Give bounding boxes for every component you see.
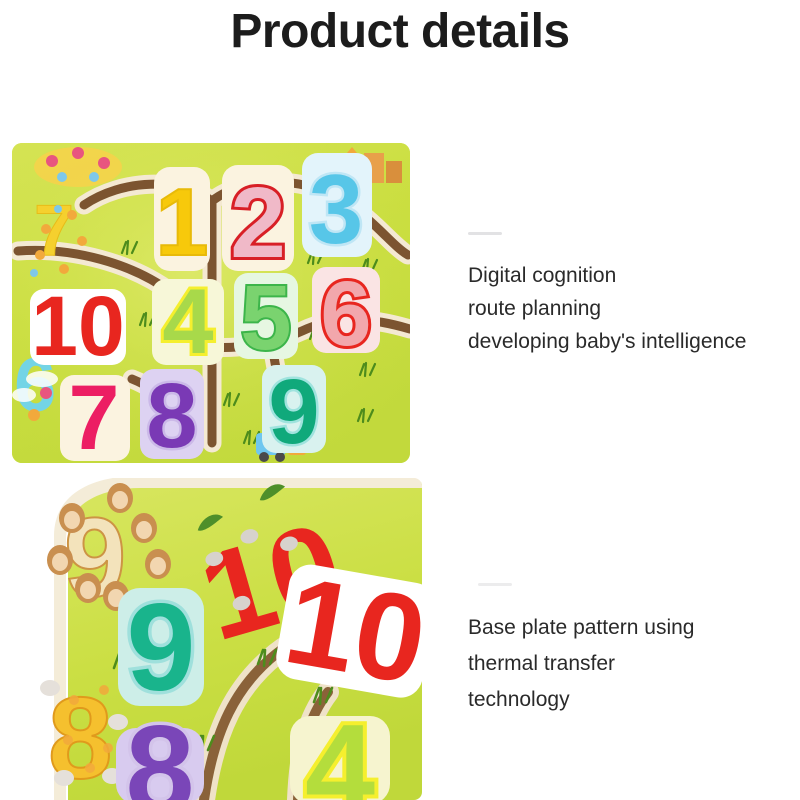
feature-line: thermal transfer	[468, 646, 695, 682]
svg-text:4: 4	[162, 271, 213, 373]
number-piece-9[interactable]: 9	[118, 579, 204, 717]
feature-line: Base plate pattern using	[468, 610, 695, 646]
number-piece-1[interactable]: 1	[154, 167, 210, 276]
feature-line: developing baby's intelligence	[468, 325, 746, 358]
feature-line: Digital cognition	[468, 259, 746, 292]
product-details-page: Product details	[0, 0, 800, 800]
number-piece-10[interactable]: 10	[271, 550, 422, 712]
feature-line: route planning	[468, 292, 746, 325]
svg-text:4: 4	[305, 698, 375, 800]
number-piece-3[interactable]: 3	[302, 153, 372, 264]
svg-text:5: 5	[240, 267, 291, 369]
svg-text:3: 3	[309, 154, 364, 264]
svg-text:9: 9	[127, 579, 196, 717]
number-piece-8[interactable]: 8	[140, 365, 204, 463]
svg-text:9: 9	[268, 361, 319, 463]
svg-text:8: 8	[146, 365, 197, 463]
number-piece-10[interactable]: 10	[30, 279, 126, 373]
number-piece-4[interactable]: 4	[152, 271, 224, 373]
product-photo-number-board: 7 6	[12, 143, 410, 463]
svg-text:6: 6	[320, 263, 371, 365]
number-piece-6[interactable]: 6	[312, 263, 380, 365]
base-plate-illustration: 9	[8, 478, 422, 800]
svg-text:2: 2	[230, 167, 286, 279]
feature-block-thermal-transfer: Base plate pattern using thermal transfe…	[468, 583, 695, 718]
svg-text:8: 8	[126, 701, 195, 800]
number-piece-5[interactable]: 5	[234, 267, 298, 369]
number-piece-7[interactable]: 7	[60, 367, 130, 463]
svg-text:1: 1	[155, 169, 208, 276]
number-board-illustration: 7 6	[12, 143, 410, 463]
number-piece-4[interactable]: 4	[290, 698, 390, 800]
feature-block-digital-cognition: Digital cognition route planning develop…	[468, 232, 746, 358]
svg-text:10: 10	[276, 551, 422, 711]
number-piece-2[interactable]: 2	[222, 165, 294, 279]
printed-carousel-art	[34, 147, 122, 187]
page-title: Product details	[0, 4, 800, 59]
svg-text:10: 10	[31, 279, 124, 373]
dash-divider-icon	[468, 232, 502, 235]
svg-text:7: 7	[68, 367, 119, 463]
product-photo-base-plate-closeup: 9	[8, 478, 422, 800]
dash-divider-icon	[478, 583, 512, 586]
number-piece-9[interactable]: 9	[262, 361, 326, 463]
feature-line: technology	[468, 682, 695, 718]
number-piece-8[interactable]: 8	[116, 701, 204, 800]
